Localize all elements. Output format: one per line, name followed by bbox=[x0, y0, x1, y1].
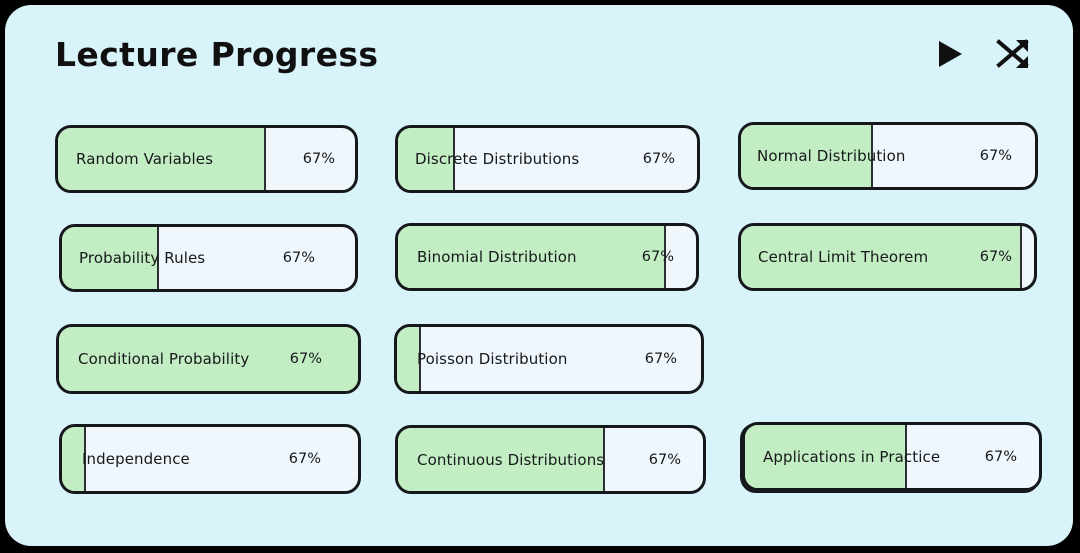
progress-bar[interactable]: Conditional Probability67% bbox=[56, 324, 361, 394]
progress-bar-label: Normal Distribution bbox=[757, 147, 905, 165]
progress-bar-percent: 67% bbox=[290, 351, 322, 367]
progress-grid: Random Variables67%Discrete Distribution… bbox=[5, 105, 1073, 525]
progress-bar-label: Probability Rules bbox=[79, 249, 205, 267]
progress-bar-label: Discrete Distributions bbox=[415, 150, 579, 168]
progress-bar-percent: 67% bbox=[980, 148, 1012, 164]
progress-bar-percent: 67% bbox=[642, 249, 674, 265]
progress-bar-percent: 67% bbox=[283, 250, 315, 266]
progress-bar-label: Conditional Probability bbox=[78, 350, 249, 368]
progress-bar-label: Poisson Distribution bbox=[417, 350, 567, 368]
progress-bar-label: Binomial Distribution bbox=[417, 248, 577, 266]
progress-bar[interactable]: Probability Rules67% bbox=[59, 224, 358, 292]
progress-bar-percent: 67% bbox=[289, 451, 321, 467]
shuffle-icon[interactable] bbox=[995, 37, 1031, 71]
progress-bar-percent: 67% bbox=[643, 151, 675, 167]
progress-bar-label: Independence bbox=[82, 450, 190, 468]
progress-bar[interactable]: Continuous Distributions67% bbox=[395, 425, 706, 494]
progress-bar[interactable]: Normal Distribution67% bbox=[738, 122, 1038, 190]
lecture-progress-card: Lecture Progress bbox=[5, 5, 1073, 546]
header-actions bbox=[935, 37, 1031, 71]
progress-bar-percent: 67% bbox=[645, 351, 677, 367]
progress-bar[interactable]: Central Limit Theorem67% bbox=[738, 223, 1037, 291]
progress-bar[interactable]: Poisson Distribution67% bbox=[394, 324, 704, 394]
play-icon[interactable] bbox=[935, 38, 965, 70]
progress-bar[interactable]: Random Variables67% bbox=[55, 125, 358, 193]
page-title: Lecture Progress bbox=[55, 35, 378, 74]
progress-bar-label: Applications in Practice bbox=[763, 448, 940, 466]
progress-bar[interactable]: Binomial Distribution67% bbox=[395, 223, 699, 291]
progress-bar-percent: 67% bbox=[980, 249, 1012, 265]
progress-bar-label: Random Variables bbox=[76, 150, 213, 168]
card-header: Lecture Progress bbox=[5, 5, 1073, 105]
progress-bar[interactable]: Discrete Distributions67% bbox=[395, 125, 700, 193]
progress-bar-percent: 67% bbox=[985, 449, 1017, 465]
app-screen: Lecture Progress bbox=[0, 0, 1080, 553]
progress-bar-label: Central Limit Theorem bbox=[758, 248, 928, 266]
progress-bar[interactable]: Applications in Practice67% bbox=[742, 422, 1042, 491]
progress-bar-percent: 67% bbox=[303, 151, 335, 167]
progress-bar-percent: 67% bbox=[649, 452, 681, 468]
progress-bar[interactable]: Independence67% bbox=[59, 424, 361, 494]
progress-bar-label: Continuous Distributions bbox=[417, 451, 604, 469]
